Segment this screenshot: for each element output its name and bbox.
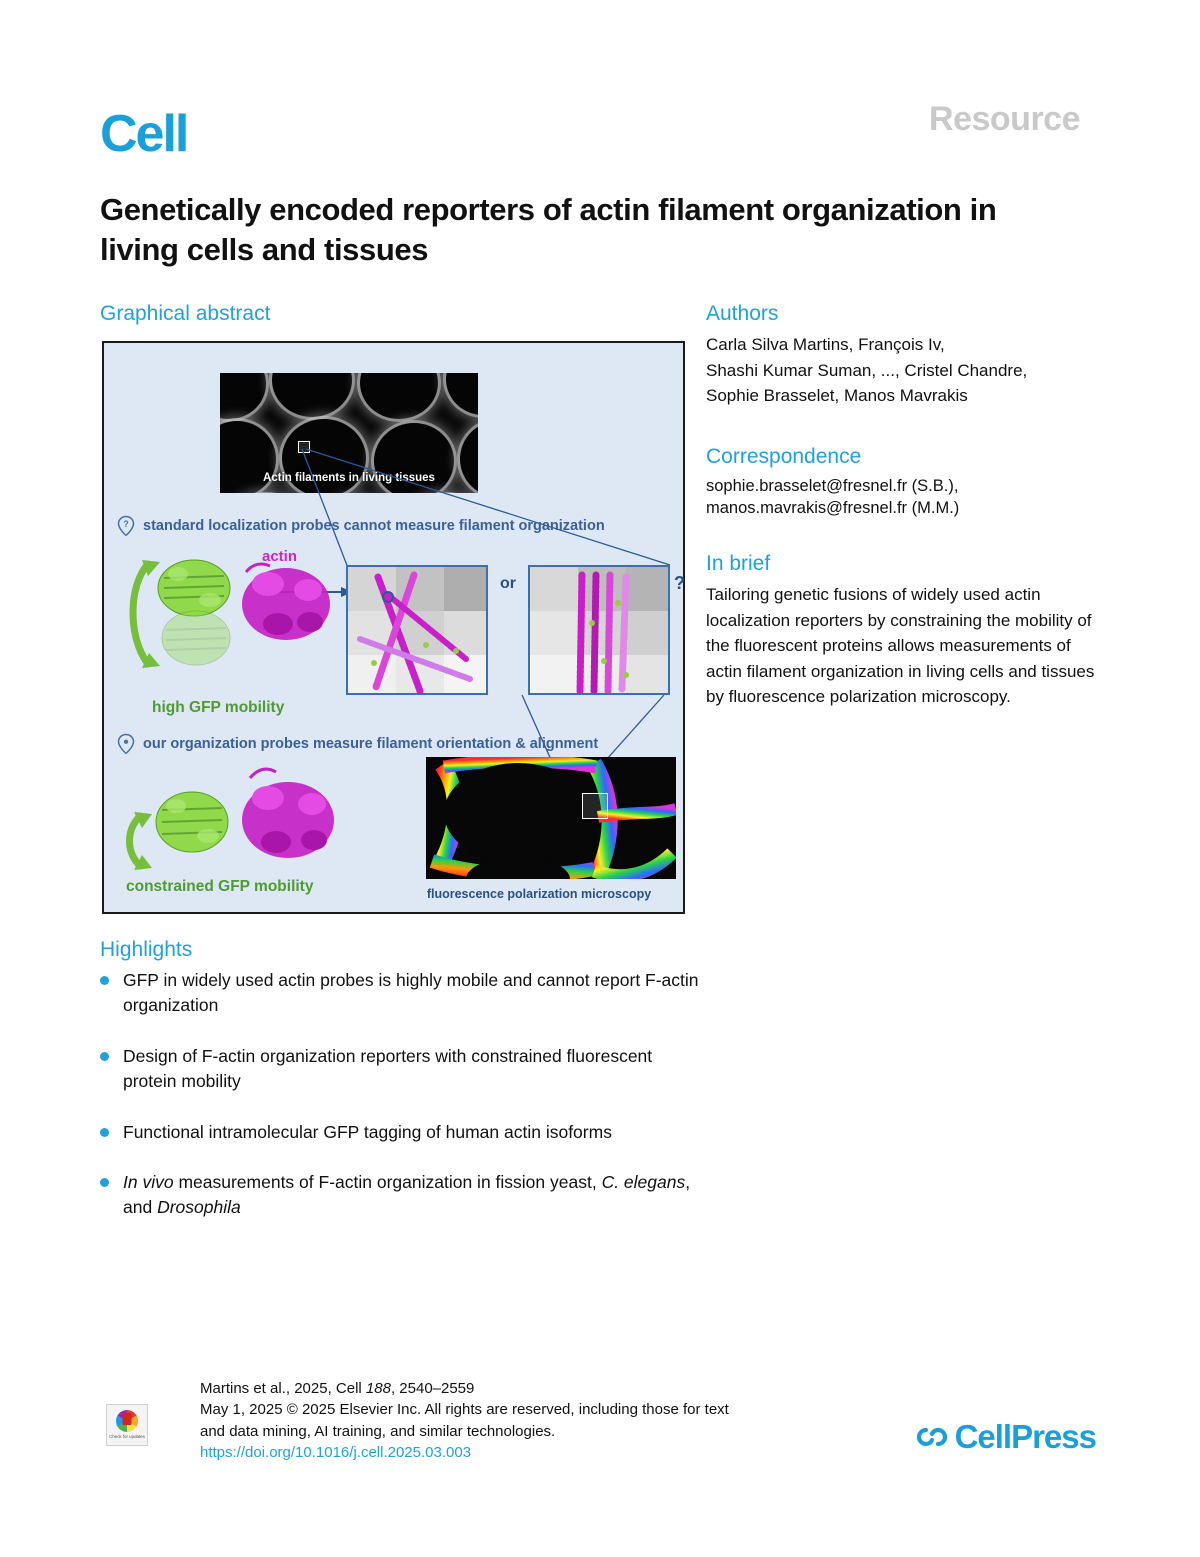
bullet-icon <box>100 1178 109 1187</box>
micrograph-caption: Actin filaments in living tissues <box>220 472 478 484</box>
highlight-text: GFP in widely used actin probes is highl… <box>123 968 700 1019</box>
graphical-abstract-heading: Graphical abstract <box>100 302 270 326</box>
filament-inset-disordered <box>346 565 488 695</box>
correspondence-email[interactable]: manos.mavrakis@fresnel.fr (M.M.) <box>706 497 1106 519</box>
statement-row-1: ? standard localization probes cannot me… <box>116 515 605 537</box>
question-label: ? <box>674 573 685 594</box>
page-title: Genetically encoded reporters of actin f… <box>100 190 1040 269</box>
statement-row-2: our organization probes measure filament… <box>116 733 598 755</box>
disordered-filaments-svg <box>348 567 488 695</box>
authors-heading: Authors <box>706 302 1106 326</box>
cellpress-wordmark: CellPress <box>955 1418 1096 1456</box>
svg-text:?: ? <box>123 519 128 529</box>
highlights-heading: Highlights <box>100 938 192 962</box>
highlight-item: In vivo measurements of F-actin organiza… <box>100 1170 700 1221</box>
article-cover-page: Cell Resource Genetically encoded report… <box>0 0 1200 1557</box>
high-mobility-label: high GFP mobility <box>152 699 284 717</box>
map-pin-dot-icon <box>116 733 136 755</box>
aligned-filaments-svg <box>530 567 670 695</box>
actin-label: actin <box>262 548 297 565</box>
bullet-icon <box>100 976 109 985</box>
copyright-line-2: and data mining, AI training, and simila… <box>200 1421 840 1442</box>
statement-2-text: our organization probes measure filament… <box>143 736 598 752</box>
article-type-label: Resource <box>929 100 1080 139</box>
polarization-roi-marker <box>582 793 608 819</box>
polarization-rainbow-svg <box>426 757 676 879</box>
constrained-mobility-protein-illustration <box>118 758 348 886</box>
gfp-barrel-solid <box>158 560 230 616</box>
doi-link[interactable]: https://doi.org/10.1016/j.cell.2025.03.0… <box>200 1442 840 1463</box>
cellpress-logo: CellPress <box>916 1418 1096 1456</box>
in-brief-heading: In brief <box>706 552 1106 576</box>
authors-line: Sophie Brasselet, Manos Mavrakis <box>706 383 1106 409</box>
highlight-text: In vivo measurements of F-actin organiza… <box>123 1170 700 1221</box>
statement-1-text: standard localization probes cannot meas… <box>143 518 605 534</box>
cellpress-mark-icon <box>916 1422 948 1452</box>
crossmark-check-for-updates-badge[interactable]: Check for updates <box>106 1404 148 1446</box>
highlight-text: Design of F-actin organization reporters… <box>123 1044 700 1095</box>
footer-citation-block: Martins et al., 2025, Cell 188, 2540–255… <box>200 1378 840 1463</box>
or-label: or <box>500 575 516 593</box>
high-mobility-protein-illustration <box>118 546 348 696</box>
polarization-micrograph <box>426 757 676 879</box>
bullet-icon <box>100 1128 109 1137</box>
gfp-barrel-ghost <box>162 611 230 665</box>
cell-journal-logo: Cell <box>100 108 187 160</box>
copyright-line-1: May 1, 2025 © 2025 Elsevier Inc. All rig… <box>200 1399 840 1420</box>
gfp-barrel-constrained <box>156 792 228 852</box>
correspondence-heading: Correspondence <box>706 445 1106 469</box>
highlight-item: GFP in widely used actin probes is highl… <box>100 968 700 1019</box>
gfp-actin-constrained-svg <box>118 758 348 886</box>
highlights-list: GFP in widely used actin probes is highl… <box>100 968 700 1246</box>
masthead: Cell Resource <box>100 100 1080 170</box>
highlight-text: Functional intramolecular GFP tagging of… <box>123 1120 612 1145</box>
gfp-actin-mobile-svg <box>118 546 348 696</box>
authors-line: Shashi Kumar Suman, ..., Cristel Chandre… <box>706 358 1106 384</box>
in-brief-section: In brief Tailoring genetic fusions of wi… <box>706 552 1106 710</box>
correspondence-email[interactable]: sophie.brasselet@fresnel.fr (S.B.), <box>706 475 1106 497</box>
highlight-item: Design of F-actin organization reporters… <box>100 1044 700 1095</box>
region-of-interest-marker <box>298 441 310 453</box>
graphical-abstract-figure: Actin filaments in living tissues ? stan… <box>102 341 685 914</box>
filament-inset-aligned <box>528 565 670 695</box>
map-pin-question-icon: ? <box>116 515 136 537</box>
crossmark-label: Check for updates <box>109 1434 145 1439</box>
tissue-micrograph: Actin filaments in living tissues <box>220 373 478 493</box>
constrained-mobility-label: constrained GFP mobility <box>126 878 313 896</box>
authors-line: Carla Silva Martins, François Iv, <box>706 332 1106 358</box>
actin-structure-magenta <box>242 564 330 640</box>
polarization-caption: fluorescence polarization microscopy <box>394 887 684 901</box>
crossmark-icon <box>116 1410 138 1432</box>
actin-structure-magenta-2 <box>242 769 334 858</box>
bullet-icon <box>100 1052 109 1061</box>
authors-section: Authors Carla Silva Martins, François Iv… <box>706 302 1106 409</box>
in-brief-text: Tailoring genetic fusions of widely used… <box>706 582 1106 710</box>
correspondence-section: Correspondence sophie.brasselet@fresnel.… <box>706 445 1106 520</box>
citation-line: Martins et al., 2025, Cell 188, 2540–255… <box>200 1378 840 1399</box>
highlight-item: Functional intramolecular GFP tagging of… <box>100 1120 700 1145</box>
